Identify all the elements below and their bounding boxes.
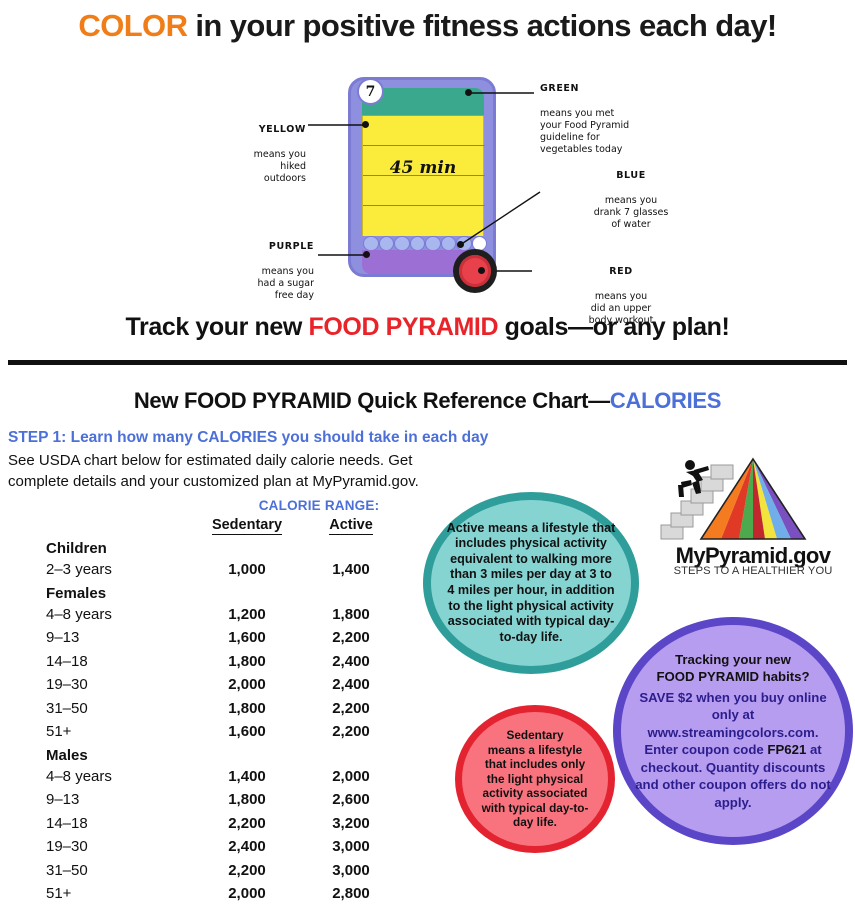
table-age-label: 31–50: [46, 862, 88, 879]
callout-blue-body: means you drank 7 glasses of water: [594, 195, 669, 230]
table-cell-sedentary: 2,200: [187, 862, 307, 879]
table-row: Males: [46, 747, 398, 768]
table-cell-sedentary: 2,000: [187, 676, 307, 693]
table-row: Children: [46, 540, 398, 561]
logo-tagline: STEPS TO A HEALTHIER YOU: [653, 565, 853, 577]
coupon-heading: Tracking your new FOOD PYRAMID habits?: [635, 651, 831, 686]
table-cell-sedentary: 1,600: [187, 629, 307, 646]
red-workout-button: [453, 249, 497, 293]
table-cell-active: 2,400: [301, 653, 401, 670]
pyramid-icon: [653, 455, 853, 545]
table-age-label: 51+: [46, 885, 71, 902]
table-row: Females: [46, 585, 398, 606]
table-cell-active: 2,200: [301, 723, 401, 740]
table-cell-active: 3,200: [301, 815, 401, 832]
table-cell-active: 2,600: [301, 791, 401, 808]
column-header-sedentary: Sedentary: [187, 517, 307, 533]
table-cell-sedentary: 1,200: [187, 606, 307, 623]
table-row: 9–131,6002,200: [46, 629, 398, 653]
table-cell-sedentary: 2,000: [187, 885, 307, 902]
mid-headline: Track your new FOOD PYRAMID goals—or any…: [0, 313, 855, 342]
section-title-highlight: CALORIES: [610, 388, 721, 413]
mid-headline-pre: Track your new: [126, 313, 309, 341]
table-cell-active: 2,000: [301, 768, 401, 785]
callout-anchor-blue: [457, 241, 464, 248]
callout-yellow-body: means you hiked outdoors: [254, 149, 306, 184]
callout-green-title: GREEN: [540, 83, 579, 94]
callout-anchor-yellow: [362, 121, 369, 128]
section-title: New FOOD PYRAMID Quick Reference Chart—C…: [0, 388, 855, 414]
table-age-label: 9–13: [46, 629, 79, 646]
table-row: 19–302,4003,000: [46, 838, 398, 862]
callout-yellow-title: YELLOW: [259, 124, 306, 135]
active-term: Active: [447, 521, 485, 535]
callout-leader-lines: [0, 0, 855, 330]
table-cell-active: 1,800: [301, 606, 401, 623]
table-age-label: 4–8 years: [46, 606, 112, 623]
table-group-label: Children: [46, 540, 107, 557]
callout-green-body: means you met your Food Pyramid guidelin…: [540, 108, 629, 156]
active-definition-circle: Active means a lifestyle that includes p…: [423, 492, 639, 674]
sedentary-text: means a lifestyle that includes only the…: [482, 743, 589, 830]
section-divider: [8, 360, 847, 365]
table-row: 4–8 years1,4002,000: [46, 768, 398, 792]
step-1-heading: STEP 1: Learn how many CALORIES you shou…: [8, 429, 488, 447]
active-text: means a lifestyle that includes physical…: [447, 521, 615, 644]
table-cell-active: 3,000: [301, 838, 401, 855]
table-age-label: 4–8 years: [46, 768, 112, 785]
table-row: 14–181,8002,400: [46, 653, 398, 677]
table-cell-active: 2,200: [301, 700, 401, 717]
table-age-label: 14–18: [46, 653, 88, 670]
table-cell-sedentary: 1,000: [187, 561, 307, 578]
coupon-circle[interactable]: Tracking your new FOOD PYRAMID habits? S…: [613, 617, 853, 845]
table-row: 2–3 years1,0001,400: [46, 561, 398, 585]
table-row: 19–302,0002,400: [46, 676, 398, 700]
calorie-table-rows: Children2–3 years1,0001,400Females4–8 ye…: [46, 540, 398, 909]
callout-red-title: RED: [609, 266, 633, 277]
table-age-label: 51+: [46, 723, 71, 740]
table-cell-active: 2,200: [301, 629, 401, 646]
table-cell-sedentary: 2,200: [187, 815, 307, 832]
table-age-label: 19–30: [46, 838, 88, 855]
coupon-code: FP621: [767, 742, 806, 757]
table-cell-sedentary: 1,400: [187, 768, 307, 785]
table-age-label: 31–50: [46, 700, 88, 717]
section-title-pre: New FOOD PYRAMID Quick Reference Chart—: [134, 388, 610, 413]
callout-anchor-green: [465, 89, 472, 96]
table-age-label: 19–30: [46, 676, 88, 693]
table-cell-sedentary: 1,800: [187, 791, 307, 808]
table-age-label: 2–3 years: [46, 561, 112, 578]
table-cell-active: 3,000: [301, 862, 401, 879]
callout-blue: BLUE means you drank 7 glasses of water: [546, 158, 716, 231]
callout-blue-title: BLUE: [616, 170, 646, 181]
table-cell-sedentary: 1,800: [187, 653, 307, 670]
table-row: 51+1,6002,200: [46, 723, 398, 747]
table-row: 4–8 years1,2001,800: [46, 606, 398, 630]
table-group-label: Males: [46, 747, 88, 764]
table-age-label: 9–13: [46, 791, 79, 808]
table-row: 31–502,2003,000: [46, 862, 398, 886]
mid-headline-post: goals—or any plan!: [498, 313, 729, 341]
day-number-badge: 7: [357, 78, 384, 105]
column-header-active: Active: [301, 517, 401, 533]
callout-green: GREEN means you met your Food Pyramid gu…: [540, 71, 710, 156]
table-age-label: 14–18: [46, 815, 88, 832]
table-cell-active: 2,800: [301, 885, 401, 902]
sedentary-term: Sedentary: [506, 728, 563, 742]
mypyramid-logo: MyPyramid.gov STEPS TO A HEALTHIER YOU: [653, 455, 853, 583]
mid-headline-highlight: FOOD PYRAMID: [308, 313, 498, 341]
table-cell-active: 2,400: [301, 676, 401, 693]
table-cell-sedentary: 1,800: [187, 700, 307, 717]
table-cell-sedentary: 2,400: [187, 838, 307, 855]
callout-purple: PURPLE means you had a sugar free day: [158, 229, 314, 302]
red-dot-icon: [459, 255, 491, 287]
callout-anchor-red: [478, 267, 485, 274]
callout-anchor-purple: [363, 251, 370, 258]
table-row: 9–131,8002,600: [46, 791, 398, 815]
sedentary-definition-circle: Sedentarymeans a lifestyle that includes…: [455, 705, 615, 853]
callout-yellow: YELLOW means you hiked outdoors: [158, 112, 306, 185]
table-row: 14–182,2003,200: [46, 815, 398, 839]
calorie-range-label: CALORIE RANGE:: [199, 498, 439, 513]
table-group-label: Females: [46, 585, 106, 602]
table-row: 51+2,0002,800: [46, 885, 398, 909]
callout-purple-body: means you had a sugar free day: [258, 266, 314, 301]
table-cell-sedentary: 1,600: [187, 723, 307, 740]
section-intro-text: See USDA chart below for estimated daily…: [8, 450, 419, 492]
callout-purple-title: PURPLE: [269, 241, 314, 252]
table-row: 31–501,8002,200: [46, 700, 398, 724]
table-cell-active: 1,400: [301, 561, 401, 578]
